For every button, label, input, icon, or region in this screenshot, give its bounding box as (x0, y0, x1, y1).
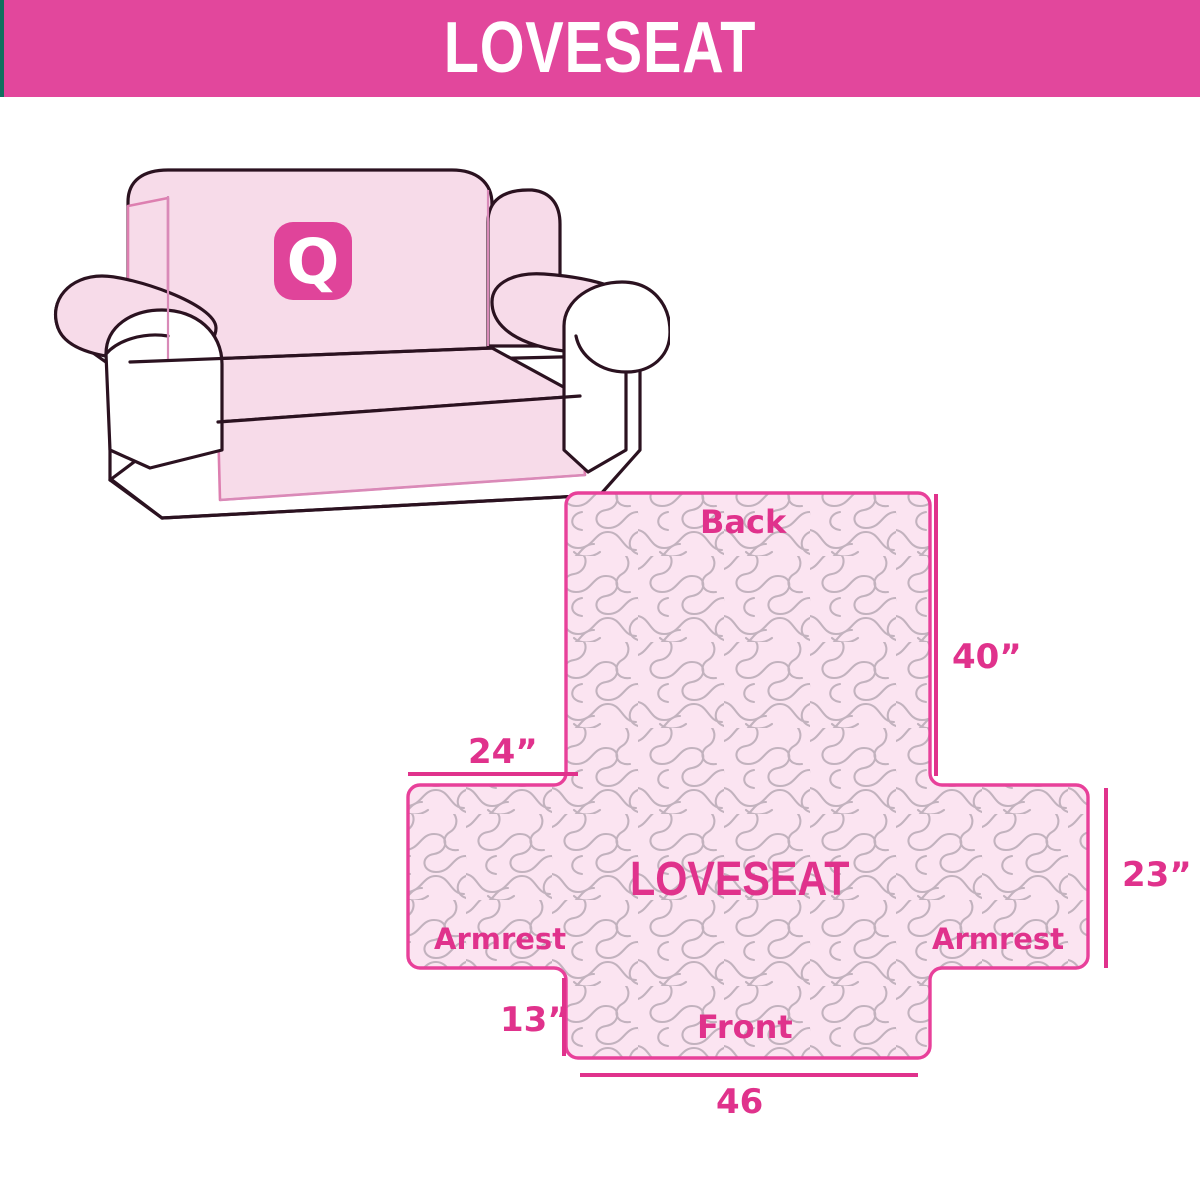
dimension-line-seat-depth (1104, 788, 1108, 968)
dimension-value-front-skirt: 13” (500, 1000, 570, 1040)
brand-logo-badge: Q (274, 222, 352, 300)
dimension-line-overall-width (580, 1073, 918, 1077)
header-accent-stripe (0, 0, 4, 97)
panel-label-armrest-right: Armrest (932, 922, 1064, 956)
panel-label-front: Front (697, 1008, 793, 1046)
header-banner: LOVESEAT (0, 0, 1200, 97)
product-dimension-diagram: LOVESEAT .ln { fill:none; stroke:#2b1220… (0, 0, 1200, 1200)
panel-label-armrest-left: Armrest (434, 922, 566, 956)
dimension-line-back-depth (408, 772, 578, 776)
dimension-value-overall-width: 46 (716, 1082, 763, 1122)
page-title: LOVESEAT (120, 0, 1080, 97)
dimension-value-seat-depth: 23” (1122, 855, 1192, 895)
flatlay-center-label: LOVESEAT (630, 852, 849, 907)
panel-label-back: Back (700, 503, 786, 541)
flatlay-cross-diagram (380, 470, 1140, 1090)
dimension-value-back-height: 40” (952, 637, 1022, 677)
dimension-value-back-depth: 24” (468, 732, 538, 772)
logo-letter: Q (274, 222, 352, 300)
dimension-line-back-height (934, 494, 938, 776)
